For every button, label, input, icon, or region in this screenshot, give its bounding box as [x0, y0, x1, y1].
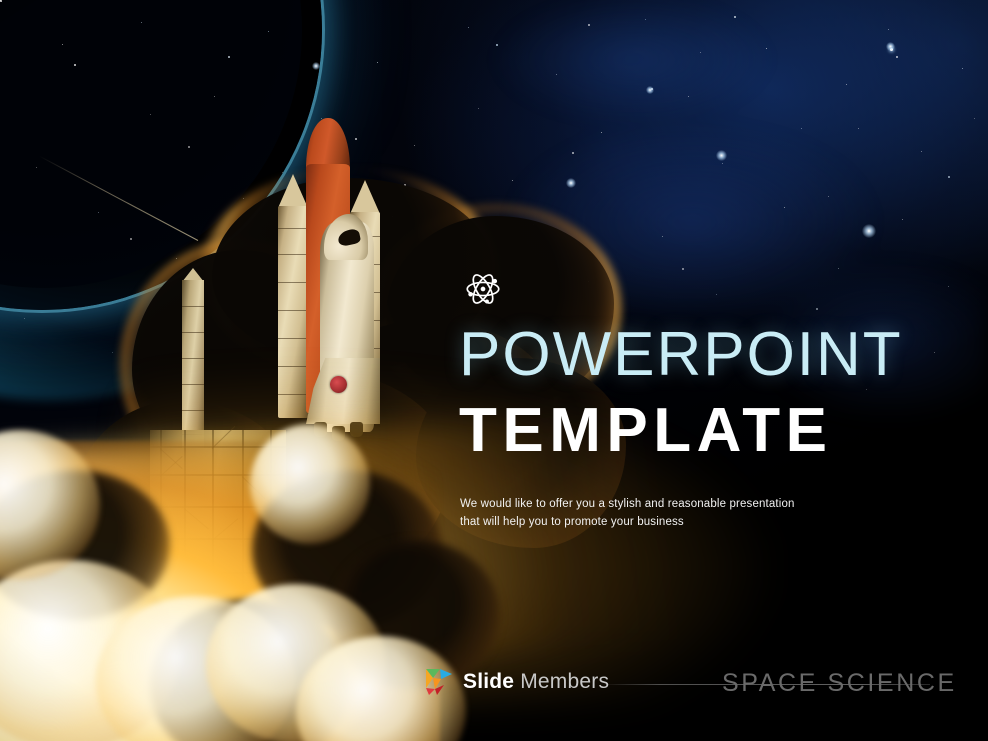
slide-members-logo[interactable]: Slide Members	[424, 666, 609, 698]
exhaust-puff	[250, 424, 370, 544]
title-line-1: POWERPOINT	[459, 324, 959, 386]
pinwheel-icon	[424, 666, 456, 698]
atom-icon	[462, 268, 504, 310]
logo-wordmark: Slide Members	[463, 670, 609, 694]
bright-star	[312, 62, 320, 70]
logo-light-word: Members	[514, 670, 609, 693]
slide-canvas: POWERPOINT TEMPLATE We would like to off…	[0, 0, 988, 741]
subtitle-line-1: We would like to offer you a stylish and…	[460, 498, 795, 510]
subtitle-line-2: that will help you to promote your busin…	[460, 516, 684, 528]
bright-star	[886, 42, 895, 51]
booster-nose-left	[278, 174, 308, 208]
booster-nose-right	[350, 180, 380, 214]
bright-star	[862, 224, 876, 238]
footer-tagline: SPACE SCIENCE	[722, 669, 957, 698]
logo-bold-word: Slide	[463, 670, 514, 693]
bright-star	[646, 86, 654, 94]
title-line-2: TEMPLATE	[459, 400, 959, 462]
subtitle-text: We would like to offer you a stylish and…	[460, 496, 840, 532]
hero-content: POWERPOINT TEMPLATE We would like to off…	[459, 268, 959, 532]
